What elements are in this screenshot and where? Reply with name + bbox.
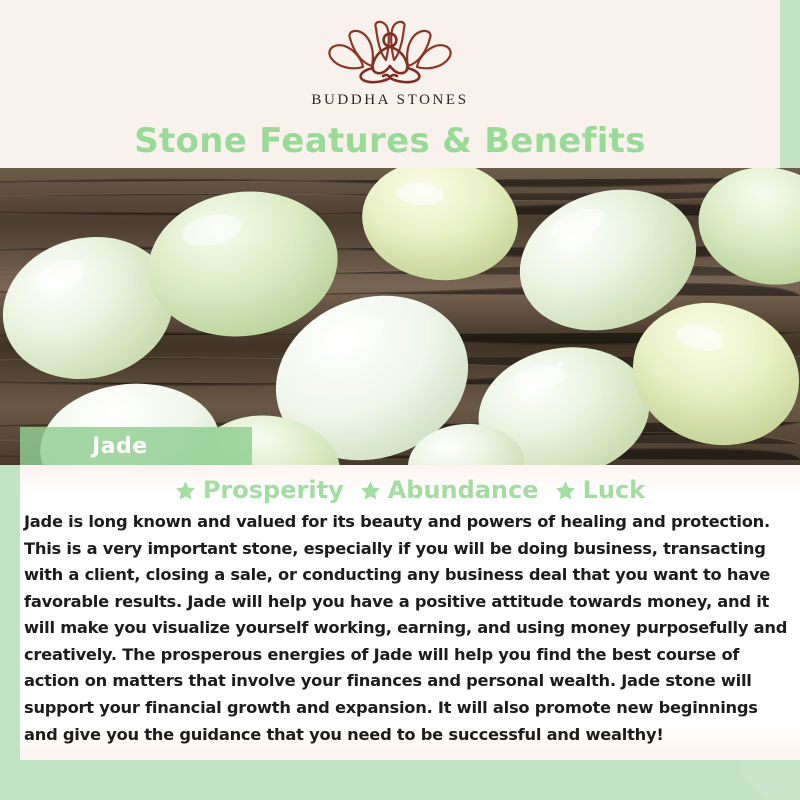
content-panel: Prosperity Abundance Luck Jade is long k… — [20, 465, 800, 760]
poster-root: BUDDHA STONES Stone Features & Benefits — [0, 0, 800, 800]
stone-photo — [0, 168, 800, 465]
decorative-frame-left — [0, 465, 20, 755]
brand-name: BUDDHA STONES — [311, 92, 468, 109]
stone-photo-image — [0, 168, 800, 465]
benefit-label: Abundance — [388, 478, 539, 502]
benefits-row: Prosperity Abundance Luck — [20, 465, 800, 505]
stone-name-label: Jade — [92, 434, 148, 459]
lotus-meditation-icon — [315, 18, 465, 86]
brand-logo: BUDDHA STONES — [0, 18, 780, 109]
star-icon — [175, 480, 196, 501]
benefit-item: Prosperity — [175, 478, 344, 502]
benefit-item: Luck — [555, 478, 646, 502]
benefit-label: Luck — [583, 478, 646, 502]
decorative-frame-right — [780, 0, 800, 170]
page-title: Stone Features & Benefits — [134, 124, 646, 158]
benefit-item: Abundance — [360, 478, 539, 502]
title-band: Stone Features & Benefits — [0, 124, 780, 158]
benefit-label: Prosperity — [203, 478, 344, 502]
star-icon — [360, 480, 381, 501]
stone-description: Jade is long known and valued for its be… — [20, 505, 800, 748]
star-icon — [555, 480, 576, 501]
stone-name-banner: Jade — [20, 427, 252, 465]
